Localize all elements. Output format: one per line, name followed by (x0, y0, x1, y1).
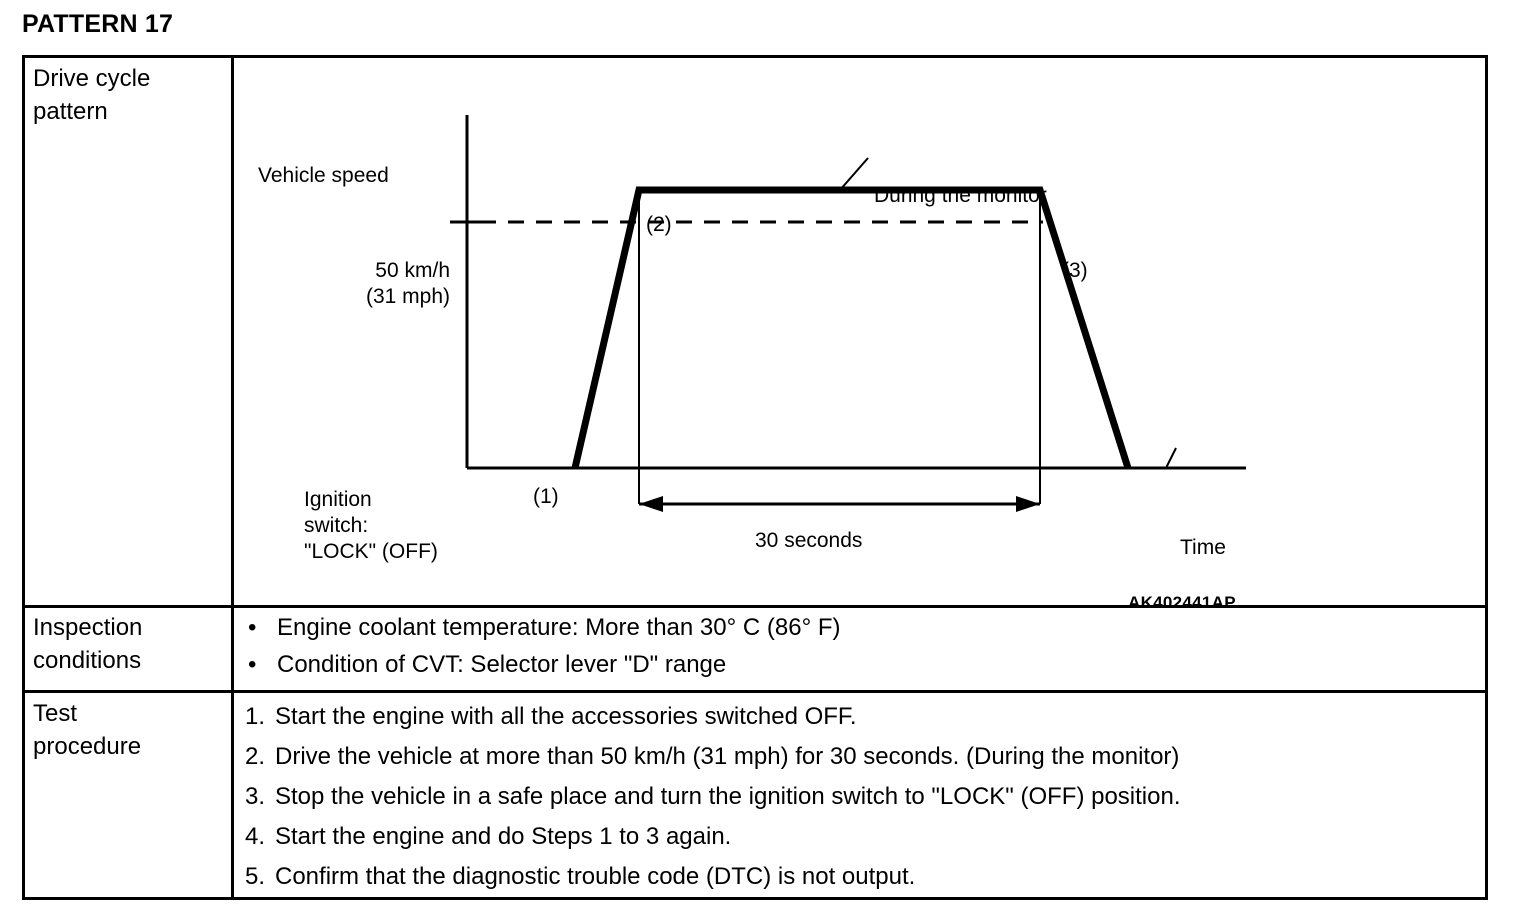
ignition-switch-label: Ignition switch: "LOCK" (OFF) (304, 487, 438, 565)
annotation-step-2: (2) (646, 212, 672, 238)
bullet-icon: • (248, 609, 256, 646)
step-number: 2. (245, 737, 265, 777)
duration-label: 30 seconds (755, 528, 862, 554)
step-number: 1. (245, 697, 265, 737)
duration-arrow-left (639, 496, 663, 512)
step-number: 3. (245, 777, 265, 817)
page-title: PATTERN 17 (22, 10, 173, 39)
annotation-step-1: (1) (533, 484, 559, 510)
step-text: Start the engine with all the accessorie… (275, 703, 857, 730)
step-number: 4. (245, 817, 265, 857)
inspection-condition-text: Engine coolant temperature: More than 30… (277, 614, 840, 641)
threshold-label: 50 km/h (31 mph) (338, 258, 450, 310)
row-label-drive-cycle-pattern: Drive cycle pattern (33, 62, 150, 128)
monitor-leader-line (840, 158, 868, 190)
step-text: Confirm that the diagnostic trouble code… (275, 863, 915, 890)
time-leader-line (1166, 448, 1176, 468)
axis-label-time: Time (1180, 535, 1226, 561)
row-label-inspection-conditions: Inspection conditions (33, 611, 142, 677)
inspection-condition-text: Condition of CVT: Selector lever "D" ran… (277, 651, 726, 678)
list-item: • Engine coolant temperature: More than … (248, 609, 840, 646)
inspection-conditions-list: • Engine coolant temperature: More than … (248, 609, 840, 683)
axis-label-vehicle-speed: Vehicle speed (258, 163, 389, 189)
table-row-divider-2 (25, 690, 1485, 693)
drive-cycle-chart: Vehicle speed 50 km/h (31 mph) Ignition … (228, 55, 1488, 602)
bullet-icon: • (248, 646, 256, 683)
list-item: • Condition of CVT: Selector lever "D" r… (248, 646, 840, 683)
step-text: Drive the vehicle at more than 50 km/h (… (275, 743, 1179, 770)
step-text: Stop the vehicle in a safe place and tur… (275, 783, 1181, 810)
list-item: 3. Stop the vehicle in a safe place and … (245, 777, 1181, 817)
list-item: 2. Drive the vehicle at more than 50 km/… (245, 737, 1181, 777)
figure-id-label: AK402441AP (1128, 593, 1236, 613)
list-item: 4. Start the engine and do Steps 1 to 3 … (245, 817, 1181, 857)
list-item: 5. Confirm that the diagnostic trouble c… (245, 857, 1181, 897)
annotation-step-3: (3) (1062, 258, 1088, 284)
step-number: 5. (245, 857, 265, 897)
list-item: 1. Start the engine with all the accesso… (245, 697, 1181, 737)
step-text: Start the engine and do Steps 1 to 3 aga… (275, 823, 731, 850)
test-procedure-list: 1. Start the engine with all the accesso… (245, 697, 1181, 897)
document-page: PATTERN 17 Drive cycle pattern Inspectio… (0, 0, 1520, 918)
table-row-divider-1 (25, 605, 1485, 608)
duration-arrow-right (1016, 496, 1040, 512)
row-label-test-procedure: Test procedure (33, 697, 141, 763)
during-the-monitor-label: During the monitor (874, 183, 1047, 209)
